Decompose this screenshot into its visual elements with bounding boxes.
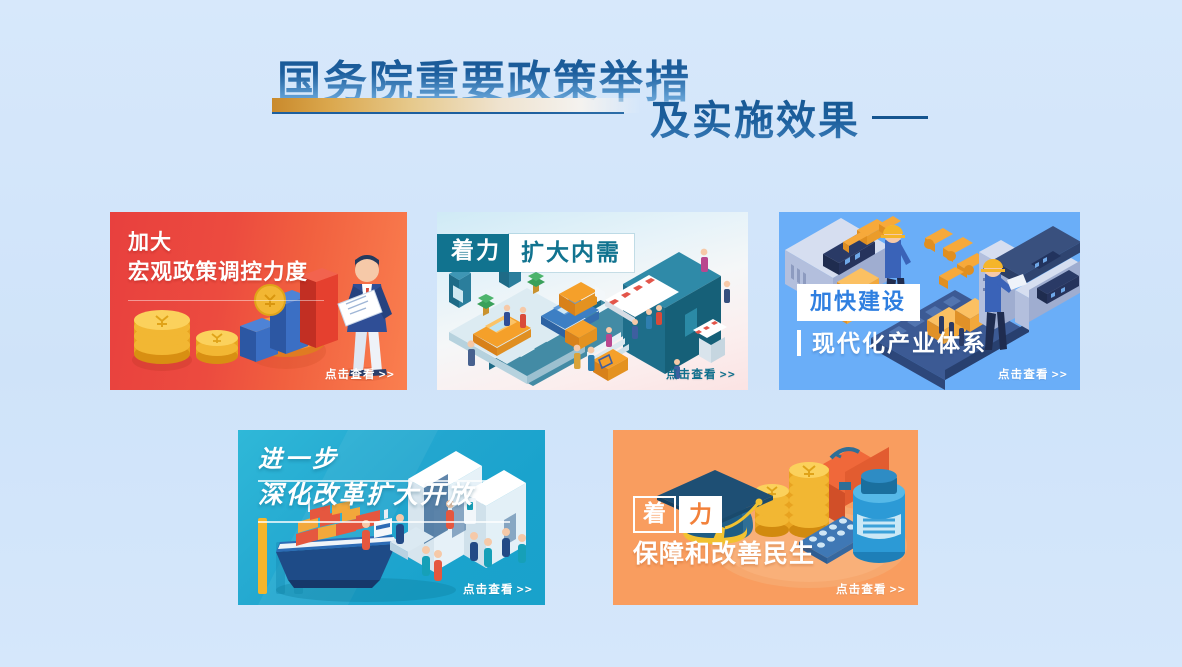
card3-headline-line1: 加快建设 [797, 284, 920, 321]
card-expand-domestic-demand[interactable]: 着力 扩大内需 点击查看>> [437, 212, 748, 390]
card5-headline-line2: 保障和改善民生 [633, 542, 815, 567]
card3-cta-arrows: >> [1052, 367, 1068, 381]
card2-headline: 着力 扩大内需 [437, 234, 634, 272]
card5-headline: 着 力 保障和改善民生 [633, 496, 815, 567]
card5-headline-part1: 着 [633, 496, 676, 533]
title-trailing-dash [872, 116, 928, 119]
card1-cta-arrows: >> [379, 367, 395, 381]
card-improve-peoples-livelihood[interactable]: 着 力 保障和改善民生 点击查看>> [613, 430, 918, 605]
card1-cta[interactable]: 点击查看>> [325, 366, 395, 382]
card1-cta-label: 点击查看 [325, 369, 376, 381]
card2-cta[interactable]: 点击查看>> [666, 366, 736, 382]
card-macro-policy[interactable]: 加大 宏观政策调控力度 点击查看>> [110, 212, 407, 390]
card4-cta[interactable]: 点击查看>> [463, 581, 533, 597]
card2-cta-arrows: >> [720, 367, 736, 381]
card1-divider [128, 300, 324, 301]
card4-cta-label: 点击查看 [463, 584, 514, 596]
card5-cta[interactable]: 点击查看>> [836, 581, 906, 597]
card5-cta-label: 点击查看 [836, 584, 887, 596]
card-modern-industrial-system[interactable]: 加快建设 现代化产业体系 点击查看>> [779, 212, 1080, 390]
card3-cta[interactable]: 点击查看>> [998, 366, 1068, 382]
card2-headline-part2: 扩大内需 [509, 234, 634, 272]
title-gradient-bar [272, 98, 640, 113]
card1-headline-line2: 宏观政策调控力度 [128, 262, 308, 284]
card2-cta-label: 点击查看 [666, 369, 717, 381]
card1-headline: 加大 宏观政策调控力度 [128, 232, 308, 284]
card3-headline: 加快建设 现代化产业体系 [797, 284, 987, 356]
title-block: 国务院重要政策举措 及实施效果 [272, 46, 972, 156]
page-title-line2: 及实施效果 [650, 88, 860, 146]
card2-headline-part1: 着力 [437, 234, 509, 272]
card3-headline-line2: 现代化产业体系 [797, 330, 987, 356]
title-underline [272, 112, 624, 114]
card-deepen-reform-open-up[interactable]: 进一步 深化改革扩大开放 点击查看>> [238, 430, 545, 605]
card4-rule-bottom [258, 521, 510, 523]
card3-cta-label: 点击查看 [998, 369, 1049, 381]
card5-headline-line1: 着 力 [633, 496, 815, 533]
card4-headline: 进一步 深化改革扩大开放 [258, 448, 474, 508]
card4-cta-arrows: >> [517, 582, 533, 596]
card4-headline-line2: 深化改革扩大开放 [258, 483, 474, 508]
card5-headline-part2: 力 [679, 496, 722, 533]
card4-headline-line1: 进一步 [258, 448, 474, 472]
card1-headline-line1: 加大 [128, 232, 308, 253]
page-header: 国务院重要政策举措 及实施效果 [0, 46, 1182, 156]
card5-cta-arrows: >> [890, 582, 906, 596]
